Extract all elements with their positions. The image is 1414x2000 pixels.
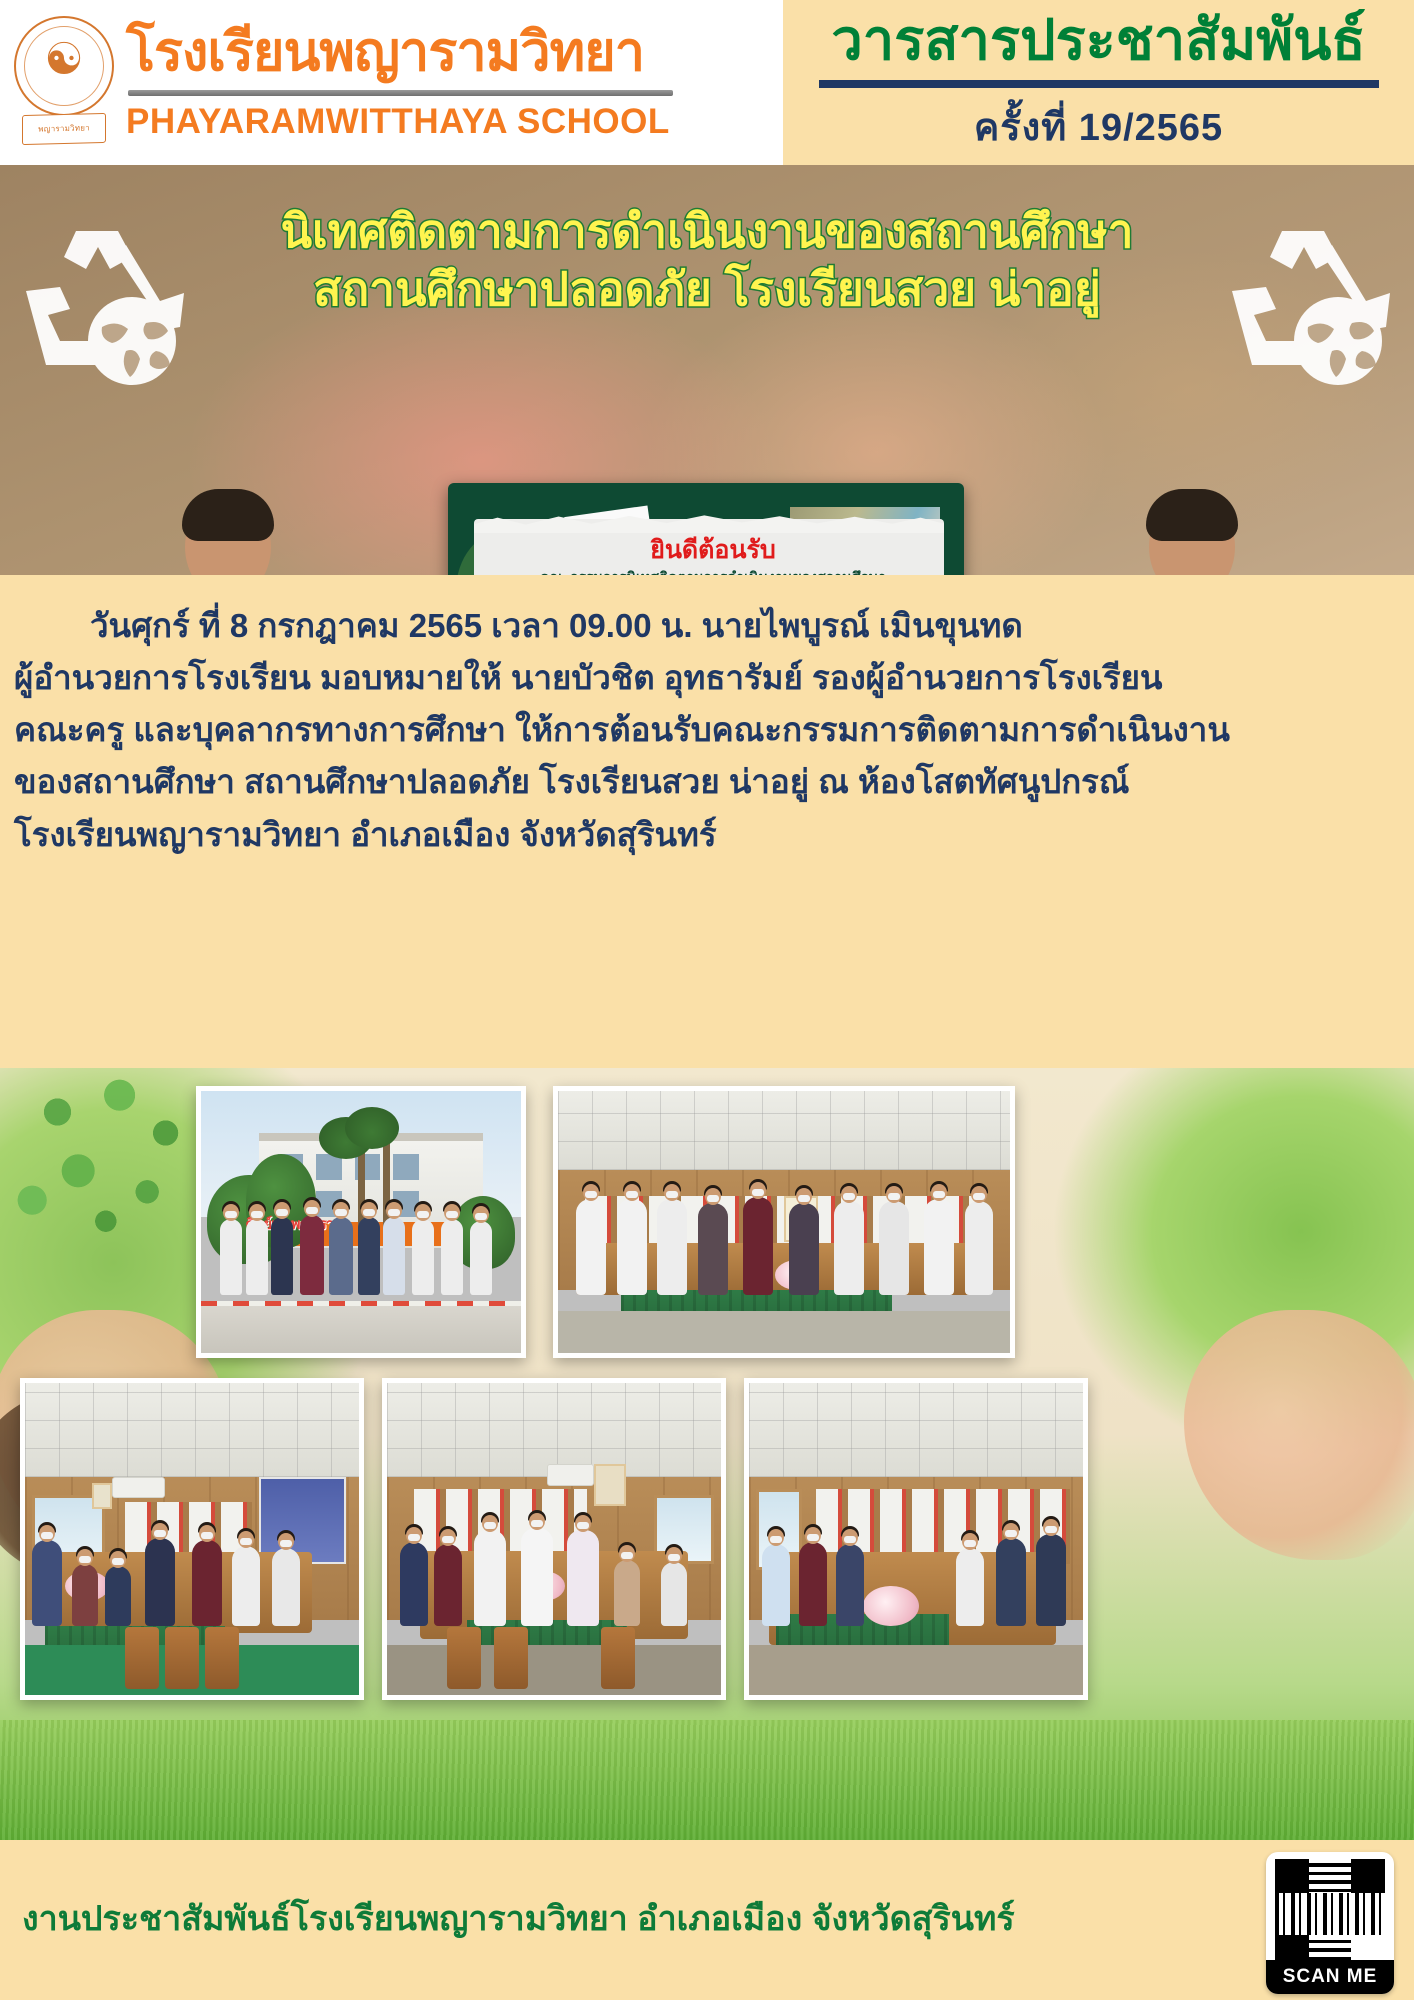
photo-room-angle-2 (382, 1378, 726, 1700)
school-crest-icon: ☯ พญารามวิทยา (8, 10, 120, 155)
newsletter-poster: ☯ พญารามวิทยา โรงเรียนพญารามวิทยา PHAYAR… (0, 0, 1414, 2000)
photo-meeting-room-group (553, 1086, 1015, 1358)
header-journal-block: วารสารประชาสัมพันธ์ ครั้งที่ 19/2565 (783, 0, 1414, 165)
grass-decoration (0, 1720, 1414, 1840)
crest-emblem-glyph: ☯ (8, 30, 120, 90)
banner-title: นิเทศติดตามการดำเนินงานของสถานศึกษา สถาน… (0, 203, 1414, 318)
portrait-director (108, 473, 348, 575)
photo-gallery: ศิษย์เก่าพญาราม (0, 1060, 1414, 1840)
crest-ribbon-label: พญารามวิทยา (22, 113, 106, 145)
footer-credit-text: งานประชาสัมพันธ์โรงเรียนพญารามวิทยา อำเภ… (0, 1901, 1015, 1938)
body-line-2: ผู้อำนวยการโรงเรียน มอบหมายให้ นายบัวชิต… (14, 652, 1400, 704)
journal-title: วารสารประชาสัมพันธ์ (831, 12, 1365, 68)
banner-title-line-2: สถานศึกษาปลอดภัย โรงเรียนสวย น่าอยู่ (0, 261, 1414, 319)
hand-decoration-right (1184, 1310, 1414, 1560)
journal-divider-rule (819, 80, 1379, 88)
welcome-heading: ยินดีต้อนรับ (538, 535, 888, 566)
school-name-english: PHAYARAMWITTHAYA SCHOOL (126, 102, 673, 142)
qr-code-icon[interactable] (1275, 1859, 1385, 1962)
banner-title-line-1: นิเทศติดตามการดำเนินงานของสถานศึกษา (0, 203, 1414, 261)
welcome-backdrop-card: ยินดีต้อนรับ คณะกรรมการนิเทศติดตามการดำเ… (448, 483, 964, 575)
page-footer: งานประชาสัมพันธ์โรงเรียนพญารามวิทยา อำเภ… (0, 1840, 1414, 2000)
journal-issue-number: ครั้งที่ 19/2565 (974, 96, 1223, 157)
article-body: วันศุกร์ ที่ 8 กรกฎาคม 2565 เวลา 09.00 น… (0, 578, 1414, 1048)
body-line-3: คณะครู และบุคลากรทางการศึกษา ให้การต้อนร… (14, 704, 1400, 756)
header-school-identity: ☯ พญารามวิทยา โรงเรียนพญารามวิทยา PHAYAR… (0, 0, 783, 165)
portrait-deputy-director (1072, 473, 1312, 575)
topic-banner: นิเทศติดตามการดำเนินงานของสถานศึกษา สถาน… (0, 165, 1414, 575)
body-line-5: โรงเรียนพญารามวิทยา อำเภอเมือง จังหวัดสุ… (14, 809, 1400, 861)
school-name-block: โรงเรียนพญารามวิทยา PHAYARAMWITTHAYA SCH… (126, 23, 673, 141)
photo-room-angle-1 (20, 1378, 364, 1700)
school-name-thai: โรงเรียนพญารามวิทยา (126, 23, 673, 82)
welcome-text-block: ยินดีต้อนรับ คณะกรรมการนิเทศติดตามการดำเ… (538, 535, 888, 575)
welcome-line-1: คณะกรรมการนิเทศติดตามการดำเนินงานของสถาน… (538, 569, 888, 575)
body-line-4: ของสถานศึกษา สถานศึกษาปลอดภัย โรงเรียนสว… (14, 756, 1400, 808)
qr-code-block[interactable]: SCAN ME (1266, 1852, 1394, 1994)
photo-school-building-group: ศิษย์เก่าพญาราม (196, 1086, 526, 1358)
header-divider-rule (128, 90, 673, 96)
photo-room-angle-3 (744, 1378, 1088, 1700)
body-line-1: วันศุกร์ ที่ 8 กรกฎาคม 2565 เวลา 09.00 น… (14, 600, 1400, 652)
qr-scan-label: SCAN ME (1266, 1960, 1394, 1994)
page-header: ☯ พญารามวิทยา โรงเรียนพญารามวิทยา PHAYAR… (0, 0, 1414, 165)
